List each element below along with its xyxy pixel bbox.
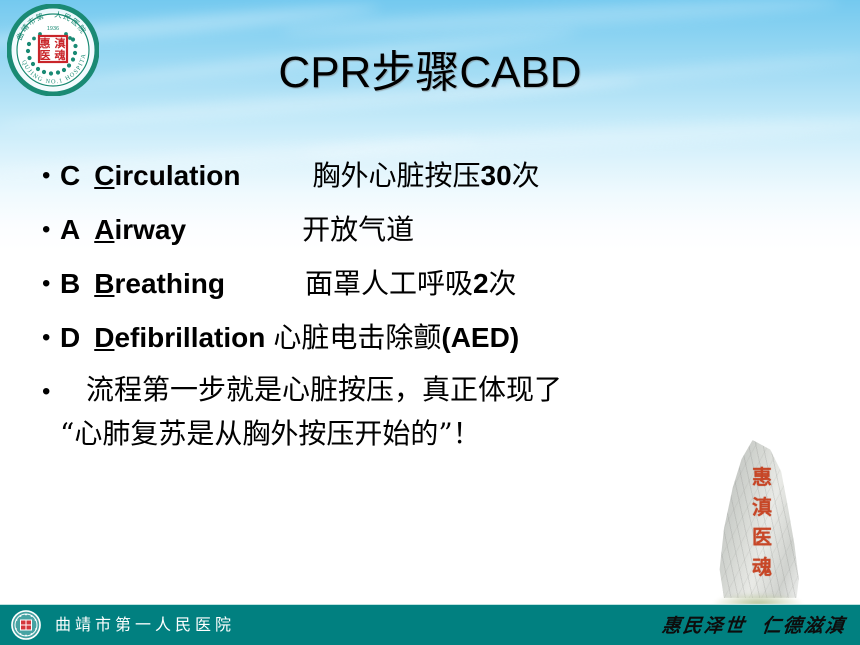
step-chinese: 胸外心脏按压	[312, 159, 480, 192]
bullet-marker: •	[38, 368, 60, 416]
bullet-marker: •	[38, 260, 60, 308]
step-chinese-tail: 次	[512, 159, 540, 192]
stone-char: 惠	[748, 462, 776, 492]
list-item: • DDefibrillation心脏电击除颤(AED)	[38, 314, 828, 362]
list-item-text: BBreathing面罩人工呼吸2次	[60, 260, 828, 308]
step-chinese: 开放气道	[302, 213, 414, 246]
slide-body-list: • CCirculation胸外心脏按压30次 • AAirway开放气道 • …	[38, 152, 828, 456]
bullet-marker: •	[38, 314, 60, 362]
step-letter: A	[60, 214, 80, 245]
list-item-text: DDefibrillation心脏电击除颤(AED)	[60, 314, 828, 362]
list-item: • CCirculation胸外心脏按压30次	[38, 152, 828, 200]
slide-footer: 曲靖市第一人民医院 惠民泽世仁德滋滇	[0, 604, 860, 645]
paragraph-line-1: 流程第一步就是心脏按压，真正体现了	[86, 373, 562, 406]
step-word: Breathing	[94, 268, 225, 299]
list-item-text: AAirway开放气道	[60, 206, 828, 254]
footer-slogan-left: 惠民泽世	[661, 615, 747, 637]
list-item: • AAirway开放气道	[38, 206, 828, 254]
list-item: • BBreathing面罩人工呼吸2次	[38, 260, 828, 308]
list-item-text: CCirculation胸外心脏按压30次	[60, 152, 828, 200]
step-number: 30	[481, 160, 512, 191]
bullet-marker: •	[38, 206, 60, 254]
step-word: Defibrillation	[94, 322, 265, 353]
paragraph-line-2: “心肺复苏是从胸外按压开始的”！	[60, 417, 481, 450]
footer-slogan: 惠民泽世仁德滋滇	[660, 605, 848, 645]
stone-monument-image: 惠 滇 医 魂	[702, 440, 812, 605]
stone-char: 滇	[748, 492, 776, 522]
step-letter: D	[60, 322, 80, 353]
step-chinese: 面罩人工呼吸	[305, 267, 473, 300]
presentation-slide: 曲靖市第一人民医院 QUJING NO.1 HOSPITAL 1936	[0, 0, 860, 645]
slide-title: CPR步骤CABD	[0, 44, 860, 102]
step-number: 2	[473, 268, 489, 299]
svg-text:1936: 1936	[47, 26, 59, 32]
step-chinese-tail: 次	[489, 267, 517, 300]
footer-hospital-name: 曲靖市第一人民医院	[55, 605, 235, 645]
stone-char: 医	[748, 522, 776, 552]
bullet-marker: •	[38, 152, 60, 200]
hospital-mini-logo	[10, 609, 42, 641]
stone-engraved-text: 惠 滇 医 魂	[748, 462, 776, 582]
footer-slogan-right: 仁德滋滇	[761, 615, 847, 637]
step-letter: C	[60, 160, 80, 191]
step-number-tail: (AED)	[441, 322, 519, 353]
stone-char: 魂	[748, 552, 776, 582]
step-word: Circulation	[94, 160, 240, 191]
paragraph-text: 流程第一步就是心脏按压，真正体现了“心肺复苏是从胸外按压开始的”！	[60, 368, 760, 456]
step-word: Airway	[94, 214, 186, 245]
step-letter: B	[60, 268, 80, 299]
step-chinese: 心脏电击除颤	[273, 321, 441, 354]
